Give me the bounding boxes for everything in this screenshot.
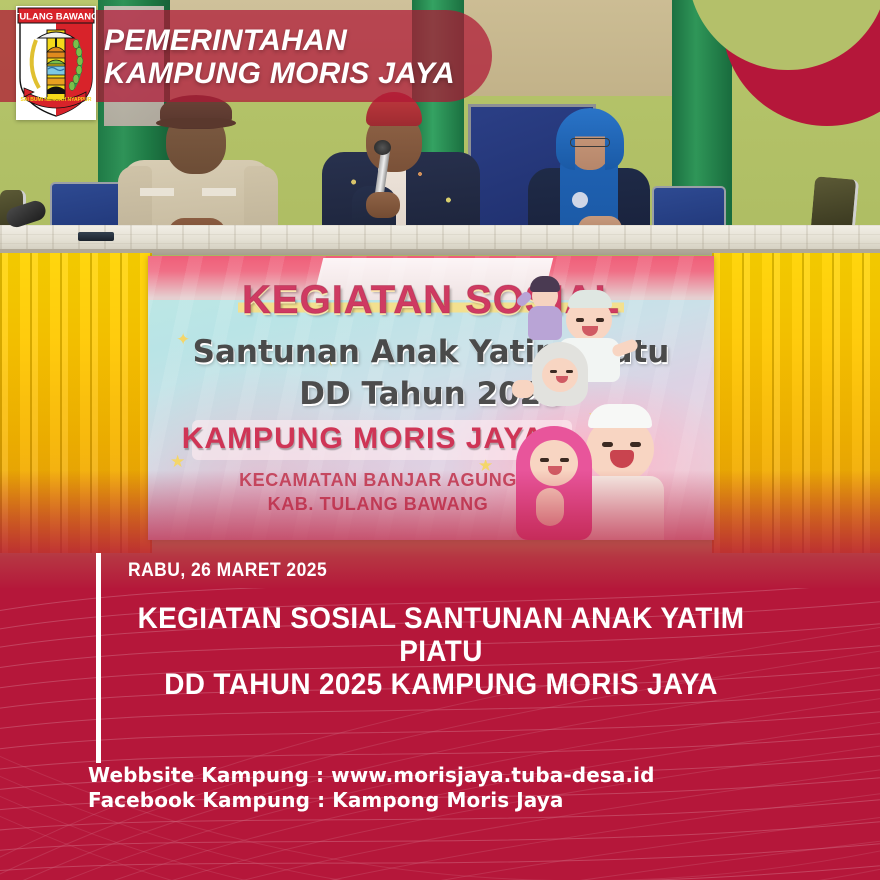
svg-text:TULANG BAWANG: TULANG BAWANG bbox=[16, 12, 96, 23]
poster-canvas: ✦ ✦ ★ ★ ★ ☾ KEGIATAN SOSIAL Santunan Ana… bbox=[0, 0, 880, 880]
event-title-line1: KEGIATAN SOSIAL SANTUNAN ANAK YATIM PIAT… bbox=[120, 602, 762, 668]
facebook-line[interactable]: Facebook Kampung : Kampong Moris Jaya bbox=[88, 788, 655, 813]
svg-text:SAI BUMI NENGAH NYAPPUR: SAI BUMI NENGAH NYAPPUR bbox=[21, 97, 92, 103]
tulang-bawang-crest-logo: TULANG BAWANG SAI BUMI NENGAH NYAPPUR bbox=[16, 6, 96, 120]
event-title: KEGIATAN SOSIAL SANTUNAN ANAK YATIM PIAT… bbox=[120, 602, 762, 701]
event-title-line2: DD TAHUN 2025 KAMPUNG MORIS JAYA bbox=[120, 668, 762, 701]
white-accent-bar bbox=[96, 553, 101, 763]
wall-panel-beige-right bbox=[464, 0, 674, 96]
header-title-line2: KAMPUNG MORIS JAYA bbox=[104, 57, 455, 90]
event-date: RABU, 26 MARET 2025 bbox=[128, 560, 327, 582]
mobile-phone-on-table bbox=[78, 232, 114, 241]
website-line[interactable]: Webbsite Kampung : www.morisjaya.tuba-de… bbox=[88, 763, 655, 788]
contact-info: Webbsite Kampung : www.morisjaya.tuba-de… bbox=[88, 763, 655, 813]
crest-svg: TULANG BAWANG SAI BUMI NENGAH NYAPPUR bbox=[16, 6, 96, 120]
header-title-line1: PEMERINTAHAN bbox=[104, 24, 455, 57]
header-title: PEMERINTAHAN KAMPUNG MORIS JAYA bbox=[104, 24, 455, 90]
eyeglasses bbox=[570, 138, 610, 147]
